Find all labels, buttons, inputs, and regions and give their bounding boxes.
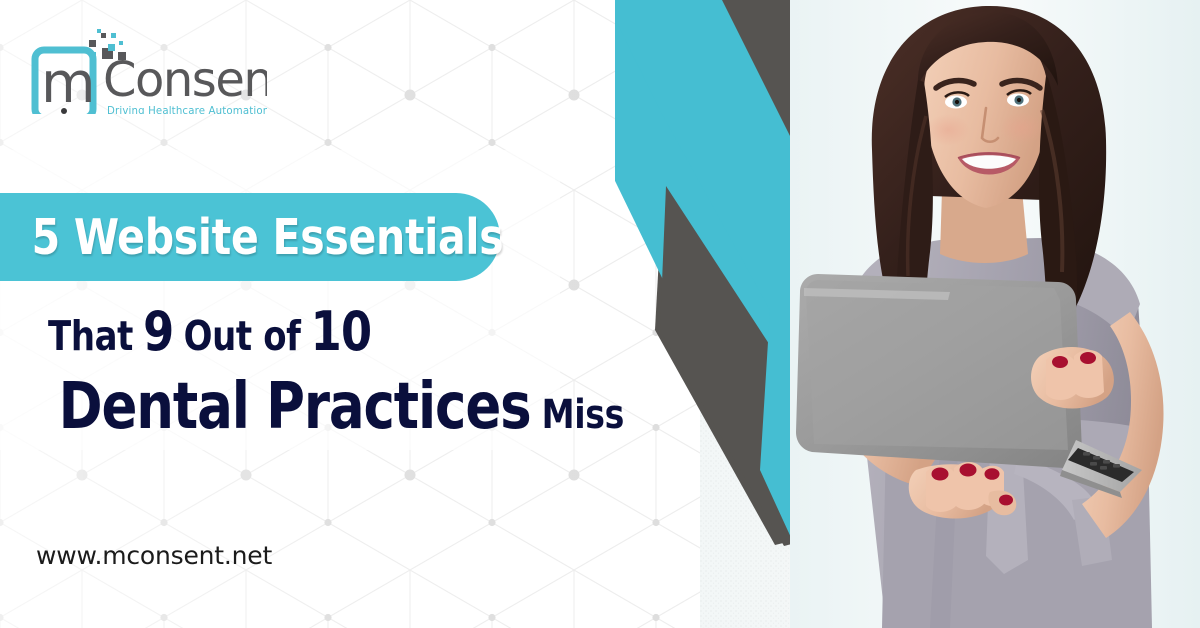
logo-word-consent: Consent xyxy=(103,52,267,108)
headline-line2-that: That xyxy=(48,312,133,360)
marketing-banner: m Consent Driving Healthcare Automation … xyxy=(0,0,1200,628)
hero-photo xyxy=(790,0,1200,628)
headline-line2-nine: 9 xyxy=(143,300,173,363)
website-url[interactable]: www.mconsent.net xyxy=(36,541,272,570)
headline-line2-outof: Out of xyxy=(184,312,301,360)
headline-line2-ten: 10 xyxy=(311,300,372,363)
mconsent-logo[interactable]: m Consent Driving Healthcare Automation xyxy=(27,22,267,114)
headline-line-2: That 9 Out of 10 xyxy=(48,300,371,363)
headline-line3-dental-practices: Dental Practices xyxy=(59,370,531,444)
headline-pill: 5 Website Essentials xyxy=(0,193,500,281)
logo-tagline: Driving Healthcare Automation xyxy=(107,106,267,114)
headline-line-3: Dental Practices Miss xyxy=(59,370,624,444)
logo-letter-m: m xyxy=(41,51,96,114)
headline-pill-text: 5 Website Essentials xyxy=(0,209,503,266)
woman-with-laptop-illustration xyxy=(790,0,1200,628)
headline-line3-miss: Miss xyxy=(542,392,624,438)
